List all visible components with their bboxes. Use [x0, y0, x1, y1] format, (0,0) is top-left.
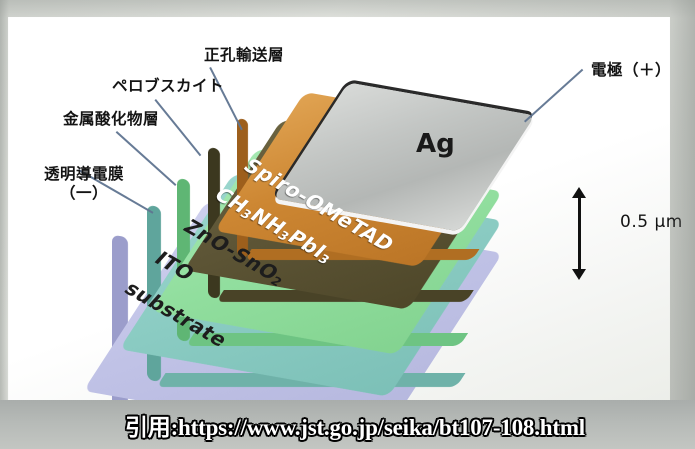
- thickness-arrow-head-top: [572, 187, 586, 198]
- label-transparent-electrode-line1: 透明導電膜: [14, 165, 154, 184]
- slide-panel: Ag Spiro-OMeTAD CH3NH3PbI3 ZnO-SnO2 ITO …: [8, 17, 670, 400]
- label-metal-oxide: 金属酸化物層: [63, 110, 159, 129]
- ag-label: Ag: [416, 129, 455, 159]
- label-hole-transport: 正孔輸送層: [204, 46, 284, 65]
- slide-canvas: Ag Spiro-OMeTAD CH3NH3PbI3 ZnO-SnO2 ITO …: [0, 0, 695, 449]
- label-transparent-electrode: 透明導電膜 （一）: [14, 165, 154, 204]
- thickness-arrow-line: [578, 195, 581, 271]
- source-caption-text: 引用:https://www.jst.go.jp/seika/bt107-108…: [125, 408, 585, 442]
- label-positive-electrode: 電極（＋）: [591, 61, 671, 80]
- source-caption-bar: 引用:https://www.jst.go.jp/seika/bt107-108…: [0, 400, 695, 449]
- label-thickness: 0.5 μm: [620, 212, 683, 233]
- label-transparent-electrode-line2: （一）: [14, 184, 154, 203]
- label-perovskite: ペロブスカイト: [112, 77, 224, 96]
- device-stack-diagram: Ag Spiro-OMeTAD CH3NH3PbI3 ZnO-SnO2 ITO …: [128, 77, 598, 407]
- thickness-arrow-head-bottom: [572, 269, 586, 280]
